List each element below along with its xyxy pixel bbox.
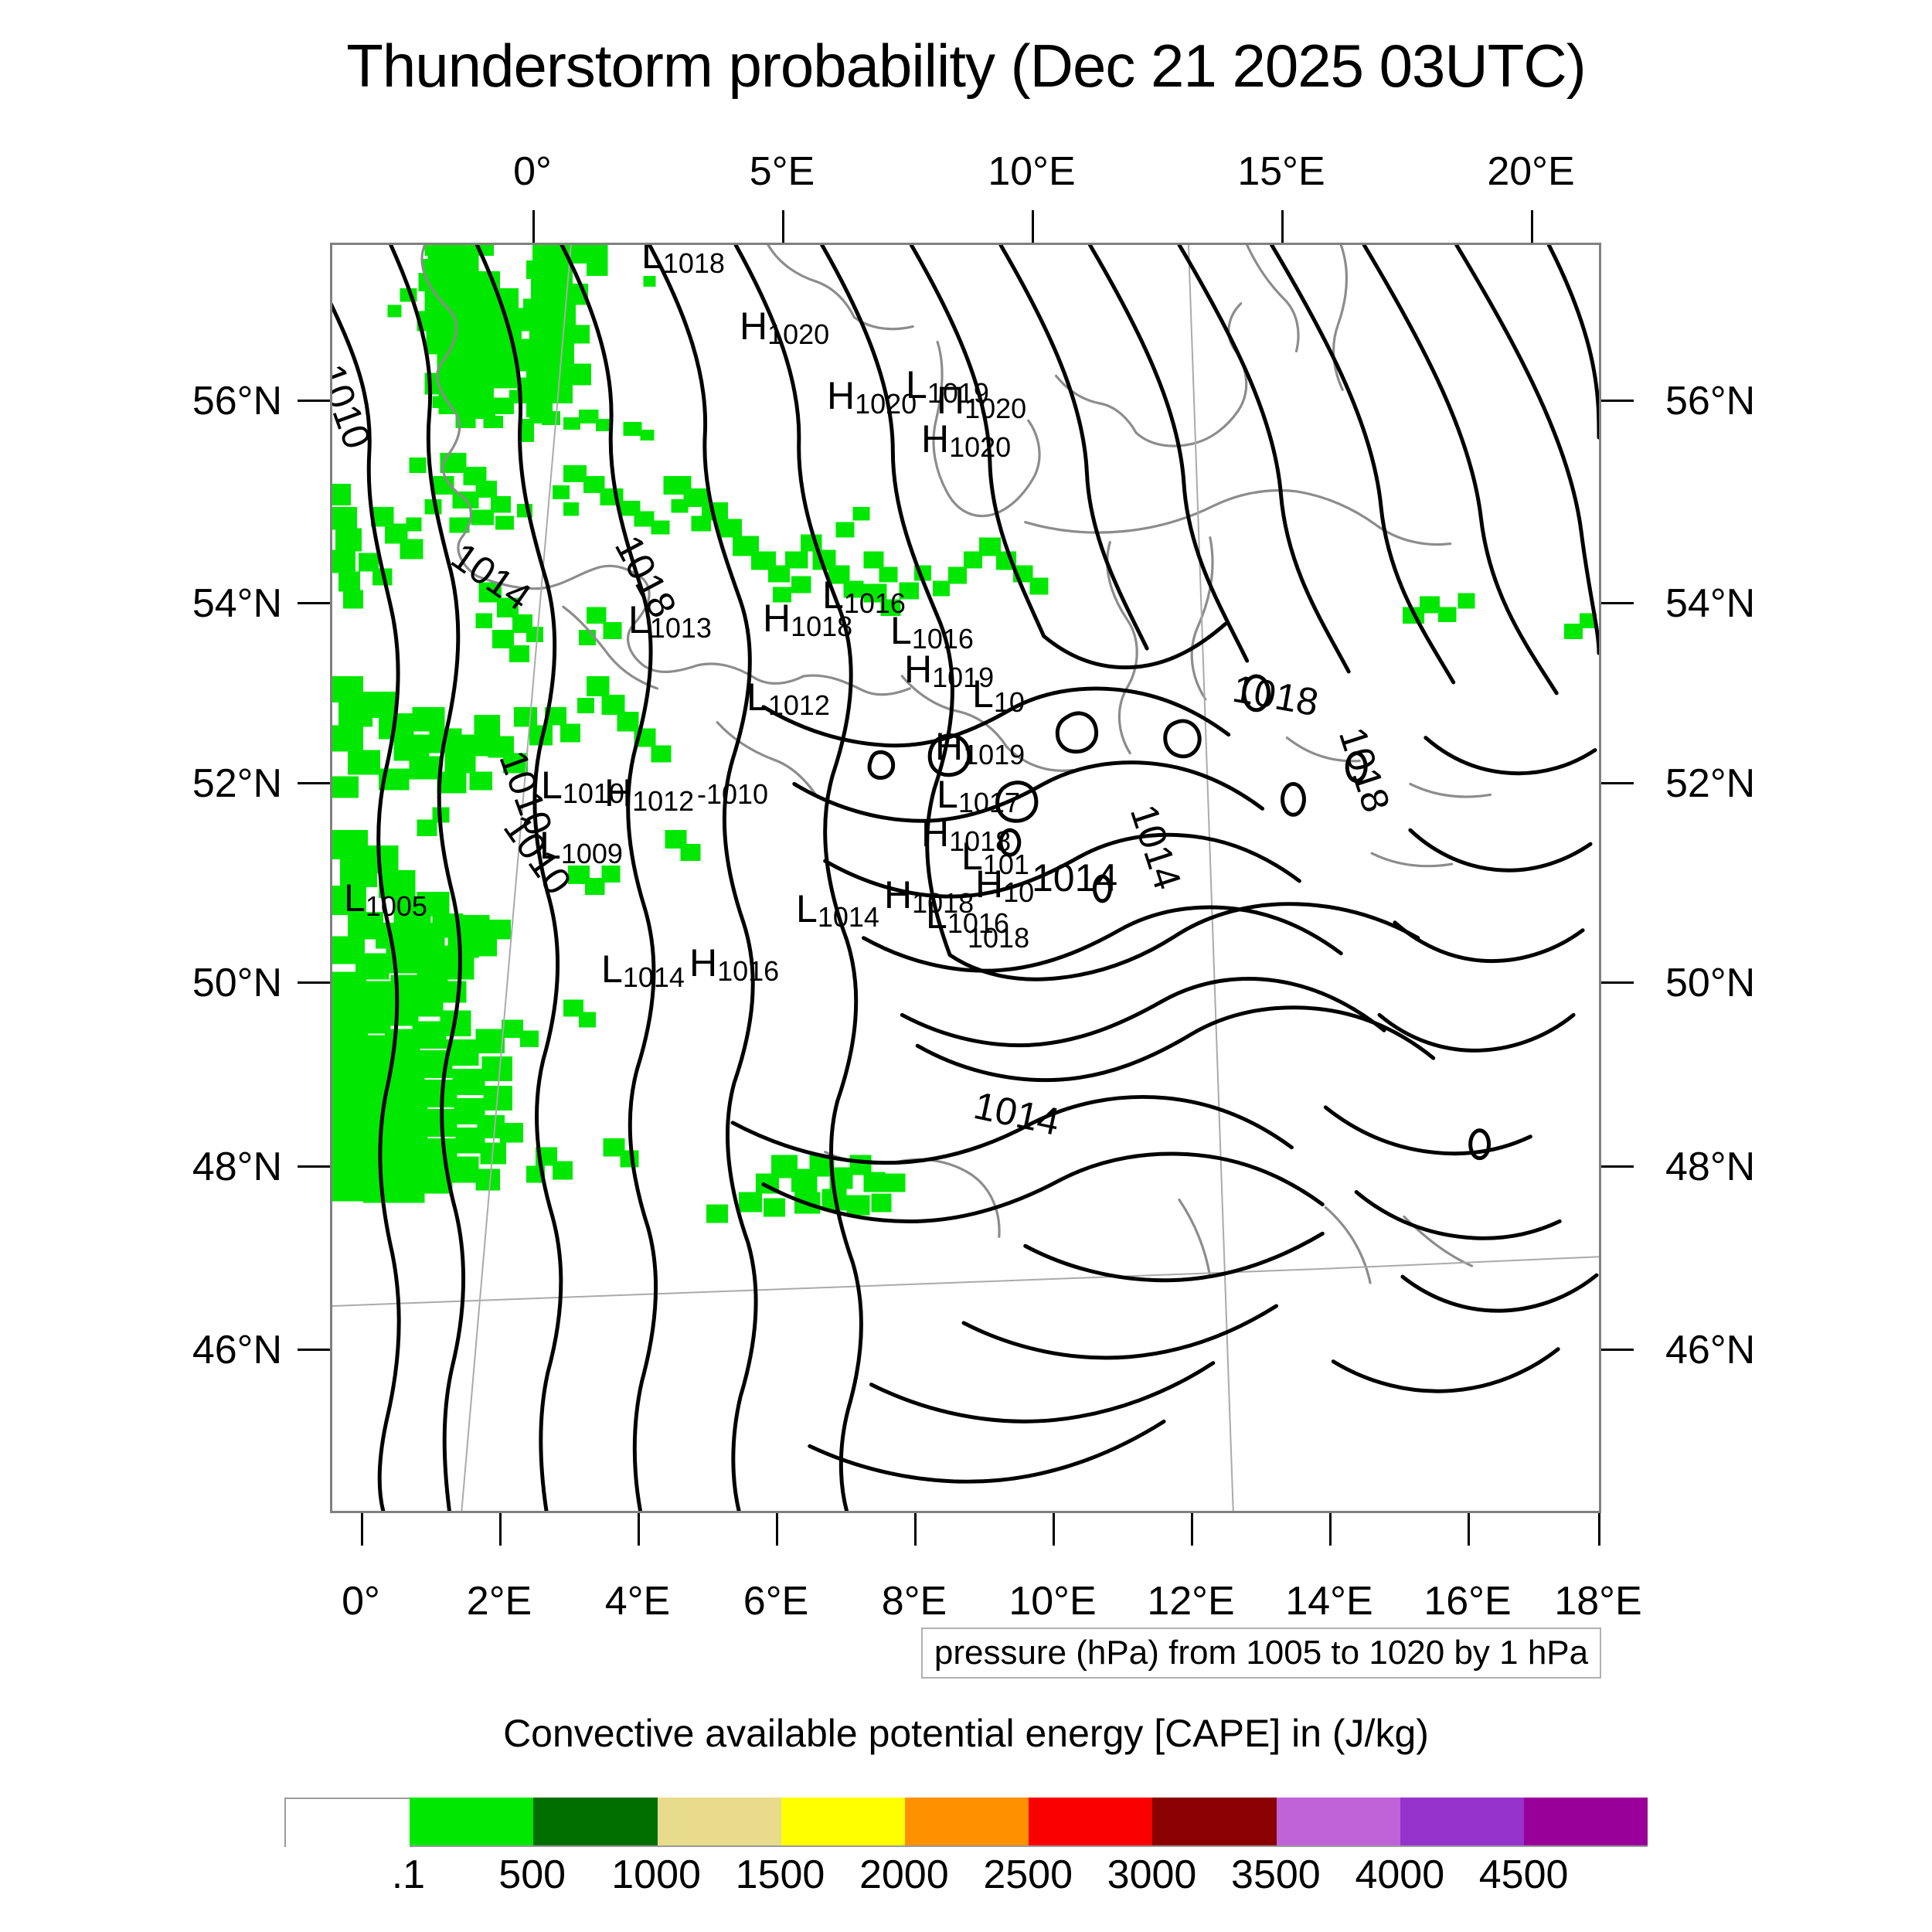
axis-tick-right [1601, 1165, 1634, 1168]
pressure-center: L10 [972, 672, 1025, 719]
axis-tick-right [1601, 782, 1634, 784]
axis-label-right: 54°N [1665, 580, 1755, 627]
colorbar-swatch-5 [905, 1798, 1029, 1845]
pressure-center: L1009 [539, 823, 623, 870]
axis-tick-bottom [1191, 1513, 1193, 1546]
colorbar-swatch-2 [533, 1798, 657, 1845]
axis-tick-top [1531, 210, 1533, 243]
isobar-label: 1014 [1032, 855, 1117, 900]
axis-tick-bottom [1053, 1513, 1055, 1546]
pressure-center: H1020 [827, 373, 917, 420]
axis-label-bottom: 4°E [605, 1578, 670, 1624]
isobar-inline-value: 1018 [968, 922, 1029, 954]
colorbar-tick: 2000 [859, 1852, 949, 1898]
colorbar-tick-labels: .1 500 1000 1500 2000 2500 3000 3500 400… [284, 1852, 1648, 1906]
axis-tick-left [298, 1165, 330, 1168]
axis-label-top: 15°E [1237, 148, 1325, 195]
axis-label-left: 52°N [174, 760, 282, 807]
colorbar-swatch-4 [781, 1798, 905, 1845]
colorbar-tick: 1500 [736, 1852, 825, 1898]
pressure-center: H1018 [763, 596, 852, 643]
pressure-center: L1014 [796, 886, 879, 934]
axis-label-left: 46°N [174, 1327, 282, 1373]
colorbar-swatch-3 [658, 1798, 781, 1845]
colorbar-tick: 1000 [611, 1852, 701, 1898]
axis-tick-bottom [1329, 1513, 1332, 1546]
axis-tick-top [532, 210, 535, 243]
axis-tick-bottom [361, 1513, 363, 1546]
axis-tick-right [1601, 602, 1634, 604]
axis-label-bottom: 0° [342, 1578, 380, 1624]
axis-label-left: 54°N [174, 580, 282, 627]
axis-tick-left [298, 602, 330, 604]
pressure-center: H1020 [740, 304, 829, 351]
colorbar-tick: 4000 [1355, 1852, 1444, 1898]
axis-label-right: 46°N [1665, 1327, 1755, 1373]
pressure-center: H1016 [689, 940, 779, 988]
axis-label-top: 20°E [1487, 148, 1574, 195]
axis-tick-bottom [914, 1513, 917, 1546]
axis-label-right: 56°N [1665, 378, 1755, 424]
pressure-legend-text: pressure (hPa) from 1005 to 1020 by 1 hP… [934, 1634, 1588, 1672]
pressure-center: L1012 [747, 675, 830, 722]
axis-label-top: 5°E [750, 148, 815, 195]
axis-tick-left [298, 782, 330, 784]
pressure-center: L1013 [628, 597, 712, 645]
axis-tick-left [298, 400, 330, 402]
colorbar-swatch-9 [1400, 1798, 1524, 1845]
axis-label-bottom: 2°E [467, 1578, 532, 1624]
axis-tick-bottom [1598, 1513, 1600, 1546]
axis-label-left: 56°N [174, 378, 282, 424]
axis-label-right: 52°N [1665, 760, 1755, 807]
colorbar-swatch-0 [284, 1798, 410, 1847]
axis-label-bottom: 8°E [882, 1578, 947, 1624]
colorbar-tick: .1 [392, 1852, 425, 1898]
colorbar-swatch-6 [1029, 1798, 1152, 1845]
axis-label-bottom: 18°E [1554, 1578, 1641, 1624]
axis-tick-top [1281, 210, 1284, 243]
axis-tick-right [1601, 981, 1634, 984]
colorbar-tick: 4500 [1479, 1852, 1569, 1898]
axis-tick-right [1601, 400, 1634, 402]
colorbar-tick: 3000 [1107, 1852, 1197, 1898]
colorbar-tick: 2500 [983, 1852, 1073, 1898]
colorbar-swatch-8 [1277, 1798, 1400, 1845]
axis-label-right: 50°N [1665, 960, 1755, 1006]
axis-label-bottom: 6°E [743, 1578, 808, 1624]
axis-tick-top [1032, 210, 1034, 243]
axis-label-bottom: 14°E [1285, 1578, 1372, 1624]
axis-tick-bottom [638, 1513, 640, 1546]
pressure-center: L1005 [344, 876, 427, 923]
pressure-center: L1018 [641, 243, 725, 280]
axis-tick-bottom [1468, 1513, 1470, 1546]
axis-tick-top [782, 210, 784, 243]
pressure-center: L1014 [601, 947, 685, 994]
map-plot-area[interactable]: 1010 1006 1014 1018 1018 1014 1010 1006 … [330, 243, 1601, 1513]
axis-label-bottom: 12°E [1147, 1578, 1234, 1624]
colorbar-tick: 500 [498, 1852, 566, 1898]
pressure-center: H1020 [921, 417, 1011, 464]
axis-label-top: 10°E [988, 148, 1075, 195]
axis-label-bottom: 10°E [1009, 1578, 1096, 1624]
colorbar[interactable] [284, 1798, 1648, 1847]
axis-label-top: 0° [513, 148, 552, 195]
colorbar-caption: Convective available potential energy [C… [0, 1711, 1932, 1756]
colorbar-swatch-1 [410, 1798, 533, 1845]
axis-label-left: 48°N [174, 1144, 282, 1190]
axis-tick-left [298, 1349, 330, 1351]
axis-tick-bottom [499, 1513, 502, 1546]
axis-label-bottom: 16°E [1423, 1578, 1511, 1624]
pressure-center: H1019 [935, 724, 1025, 771]
colorbar-swatch-7 [1152, 1798, 1276, 1845]
axis-label-left: 50°N [174, 960, 282, 1006]
colorbar-tick: 3500 [1231, 1852, 1321, 1898]
axis-label-right: 48°N [1665, 1144, 1755, 1190]
pressure-center: H1012 [604, 770, 694, 818]
axis-tick-right [1601, 1349, 1634, 1351]
axis-tick-bottom [776, 1513, 778, 1546]
pressure-legend-box: pressure (hPa) from 1005 to 1020 by 1 hP… [921, 1628, 1601, 1679]
axis-tick-left [298, 981, 330, 984]
isobar-inline-value: -1010 [697, 778, 768, 811]
colorbar-swatch-10 [1524, 1798, 1648, 1845]
page-title: Thunderstorm probability (Dec 21 2025 03… [0, 31, 1932, 101]
